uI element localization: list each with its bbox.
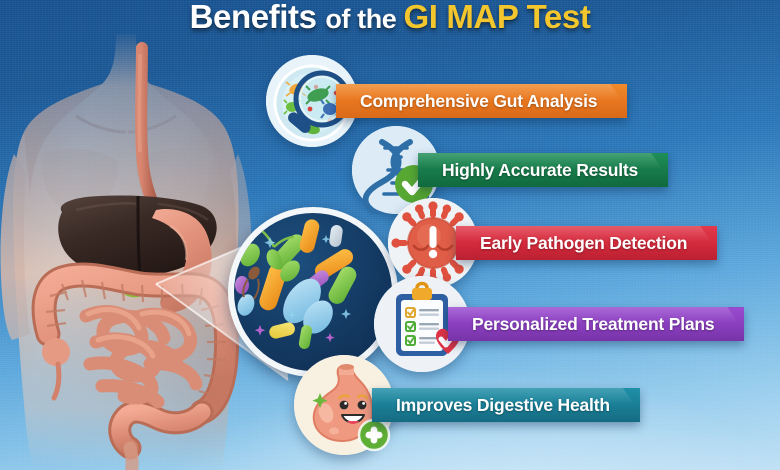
title-part-ofthe: of the	[325, 4, 403, 34]
microbiome-magnification-circle	[228, 207, 398, 377]
benefit-banner-2[interactable]: Highly Accurate Results	[418, 153, 668, 187]
title-part-benefits: Benefits	[190, 0, 326, 35]
page-title: Benefits of the GI MAP Test	[0, 0, 780, 36]
benefit-label-5: Improves Digestive Health	[396, 395, 610, 416]
benefit-label-4: Personalized Treatment Plans	[472, 314, 714, 335]
benefit-label-3: Early Pathogen Detection	[480, 233, 687, 254]
benefit-row-3[interactable]: Early Pathogen Detection	[388, 198, 717, 288]
benefit-banner-1[interactable]: Comprehensive Gut Analysis	[336, 84, 627, 118]
infographic-canvas: Benefits of the GI MAP Test	[0, 0, 780, 470]
benefit-label-2: Highly Accurate Results	[442, 160, 638, 181]
benefit-row-5[interactable]: Improves Digestive Health	[294, 355, 640, 455]
benefit-banner-4[interactable]: Personalized Treatment Plans	[448, 307, 744, 341]
benefit-banner-5[interactable]: Improves Digestive Health	[372, 388, 640, 422]
benefit-banner-3[interactable]: Early Pathogen Detection	[456, 226, 717, 260]
title-part-gimap: GI MAP Test	[404, 0, 591, 35]
benefit-label-1: Comprehensive Gut Analysis	[360, 91, 597, 112]
